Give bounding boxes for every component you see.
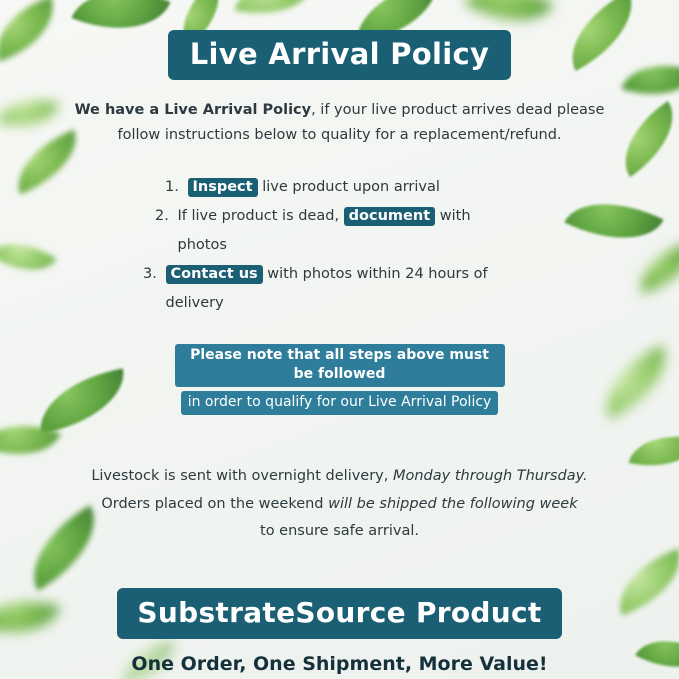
intro-lead-text: We have a Live Arrival Policy (75, 102, 312, 118)
shipping-line-2a: Orders placed on the weekend (101, 496, 328, 512)
leaf-icon (632, 242, 679, 293)
step-before-text: If live product is dead, (178, 208, 344, 224)
shipping-schedule-paragraph: Livestock is sent with overnight deliver… (80, 463, 600, 546)
step-highlight-inspect: Inspect (188, 178, 258, 197)
live-arrival-steps-list: Inspect live product upon arrival If liv… (166, 173, 514, 318)
policy-note-callout: Please note that all steps above must be… (175, 344, 505, 419)
leaf-icon (0, 90, 59, 137)
leaf-icon (590, 345, 679, 420)
substrate-section: SubstrateSource Product One Order, One S… (0, 588, 679, 679)
shipping-line-3: to ensure safe arrival. (260, 523, 419, 539)
list-item: Inspect live product upon arrival (184, 173, 514, 202)
note-line-2: in order to qualify for our Live Arrival… (181, 391, 499, 415)
list-item: Contact us with photos within 24 hours o… (162, 260, 514, 318)
live-arrival-policy-title: Live Arrival Policy (168, 30, 511, 80)
substrate-subheading: One Order, One Shipment, More Value! (0, 653, 679, 675)
list-item: If live product is dead, document with p… (174, 202, 514, 260)
step-highlight-document: document (344, 207, 435, 226)
shipping-line-1b: Monday through Thursday. (393, 468, 588, 484)
leaf-icon (32, 368, 131, 433)
leaf-icon (564, 181, 663, 261)
policy-infographic: Live Arrival Policy We have a Live Arriv… (0, 0, 679, 679)
shipping-line-2b: will be shipped the following week (328, 496, 578, 512)
note-line-1: Please note that all steps above must be… (175, 344, 505, 387)
step-highlight-contact-us: Contact us (166, 265, 263, 284)
live-arrival-intro-paragraph: We have a Live Arrival Policy, if your l… (60, 98, 620, 147)
substrate-source-product-title: SubstrateSource Product (117, 588, 561, 639)
leaf-icon (0, 227, 57, 288)
shipping-line-1a: Livestock is sent with overnight deliver… (91, 468, 393, 484)
step-after-text: live product upon arrival (258, 179, 440, 195)
leaf-icon (629, 426, 679, 476)
